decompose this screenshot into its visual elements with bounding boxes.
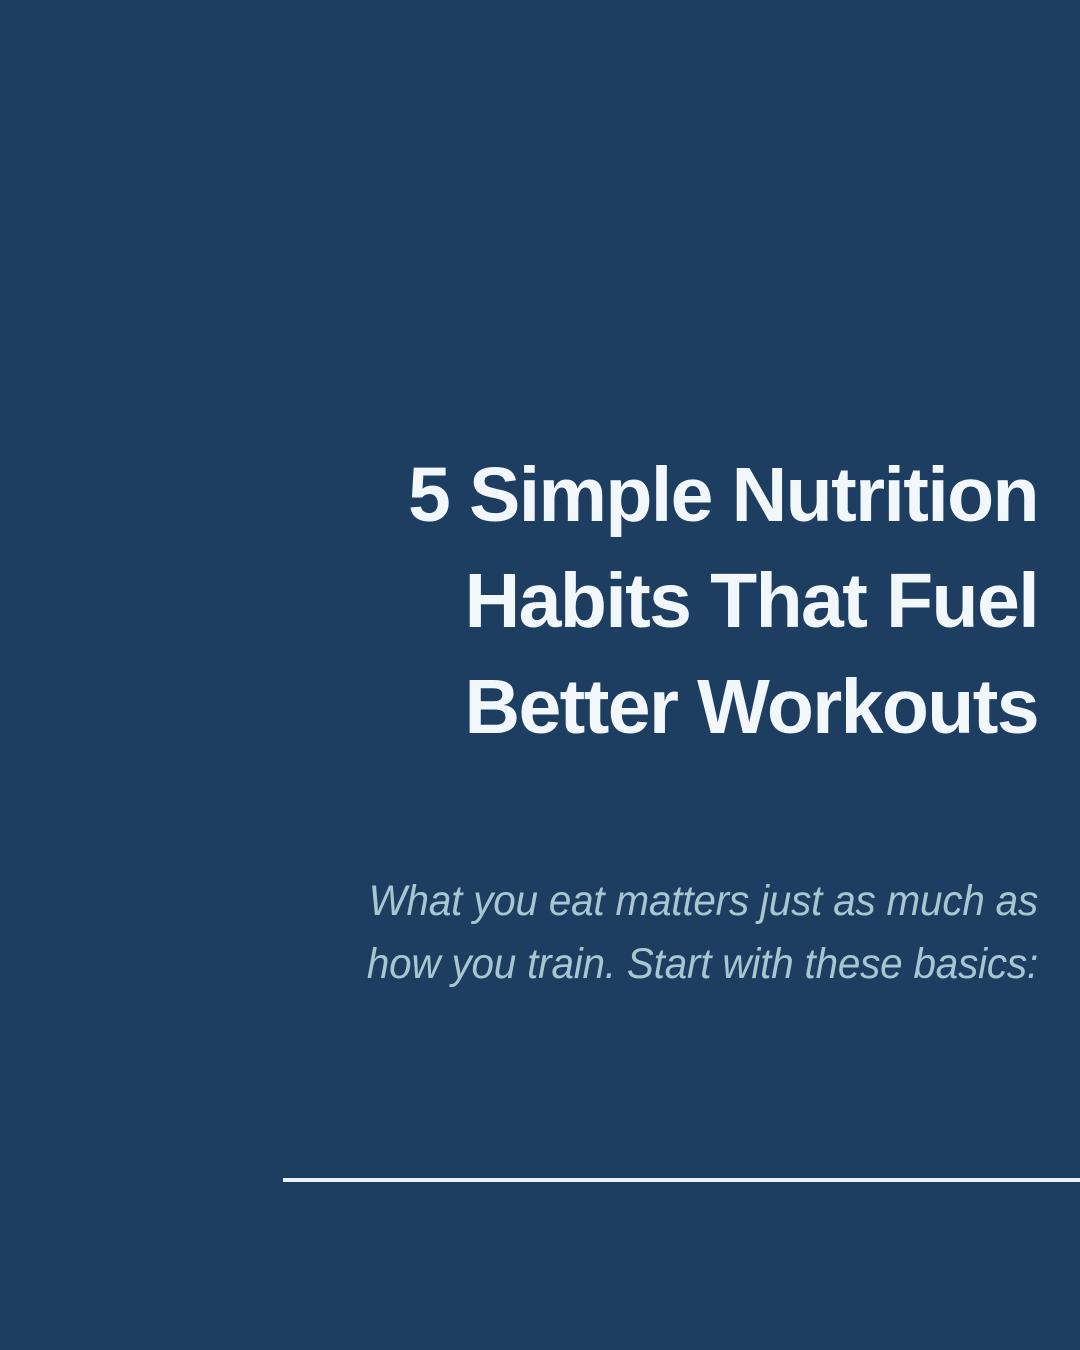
title-line-1: 5 Simple Nutrition: [0, 442, 1038, 548]
page-subtitle: What you eat matters just as much as how…: [0, 870, 1038, 996]
title-card: 5 Simple Nutrition Habits That Fuel Bett…: [0, 0, 1080, 1350]
title-line-2: Habits That Fuel: [0, 548, 1038, 654]
page-title: 5 Simple Nutrition Habits That Fuel Bett…: [0, 442, 1038, 760]
subtitle-line-2: how you train. Start with these basics:: [62, 933, 1038, 996]
title-line-3: Better Workouts: [0, 654, 1038, 760]
subtitle-line-1: What you eat matters just as much as: [62, 870, 1038, 933]
horizontal-rule: [283, 1178, 1080, 1182]
divider-container: [283, 1178, 1080, 1182]
content-stack: 5 Simple Nutrition Habits That Fuel Bett…: [0, 0, 1038, 1350]
